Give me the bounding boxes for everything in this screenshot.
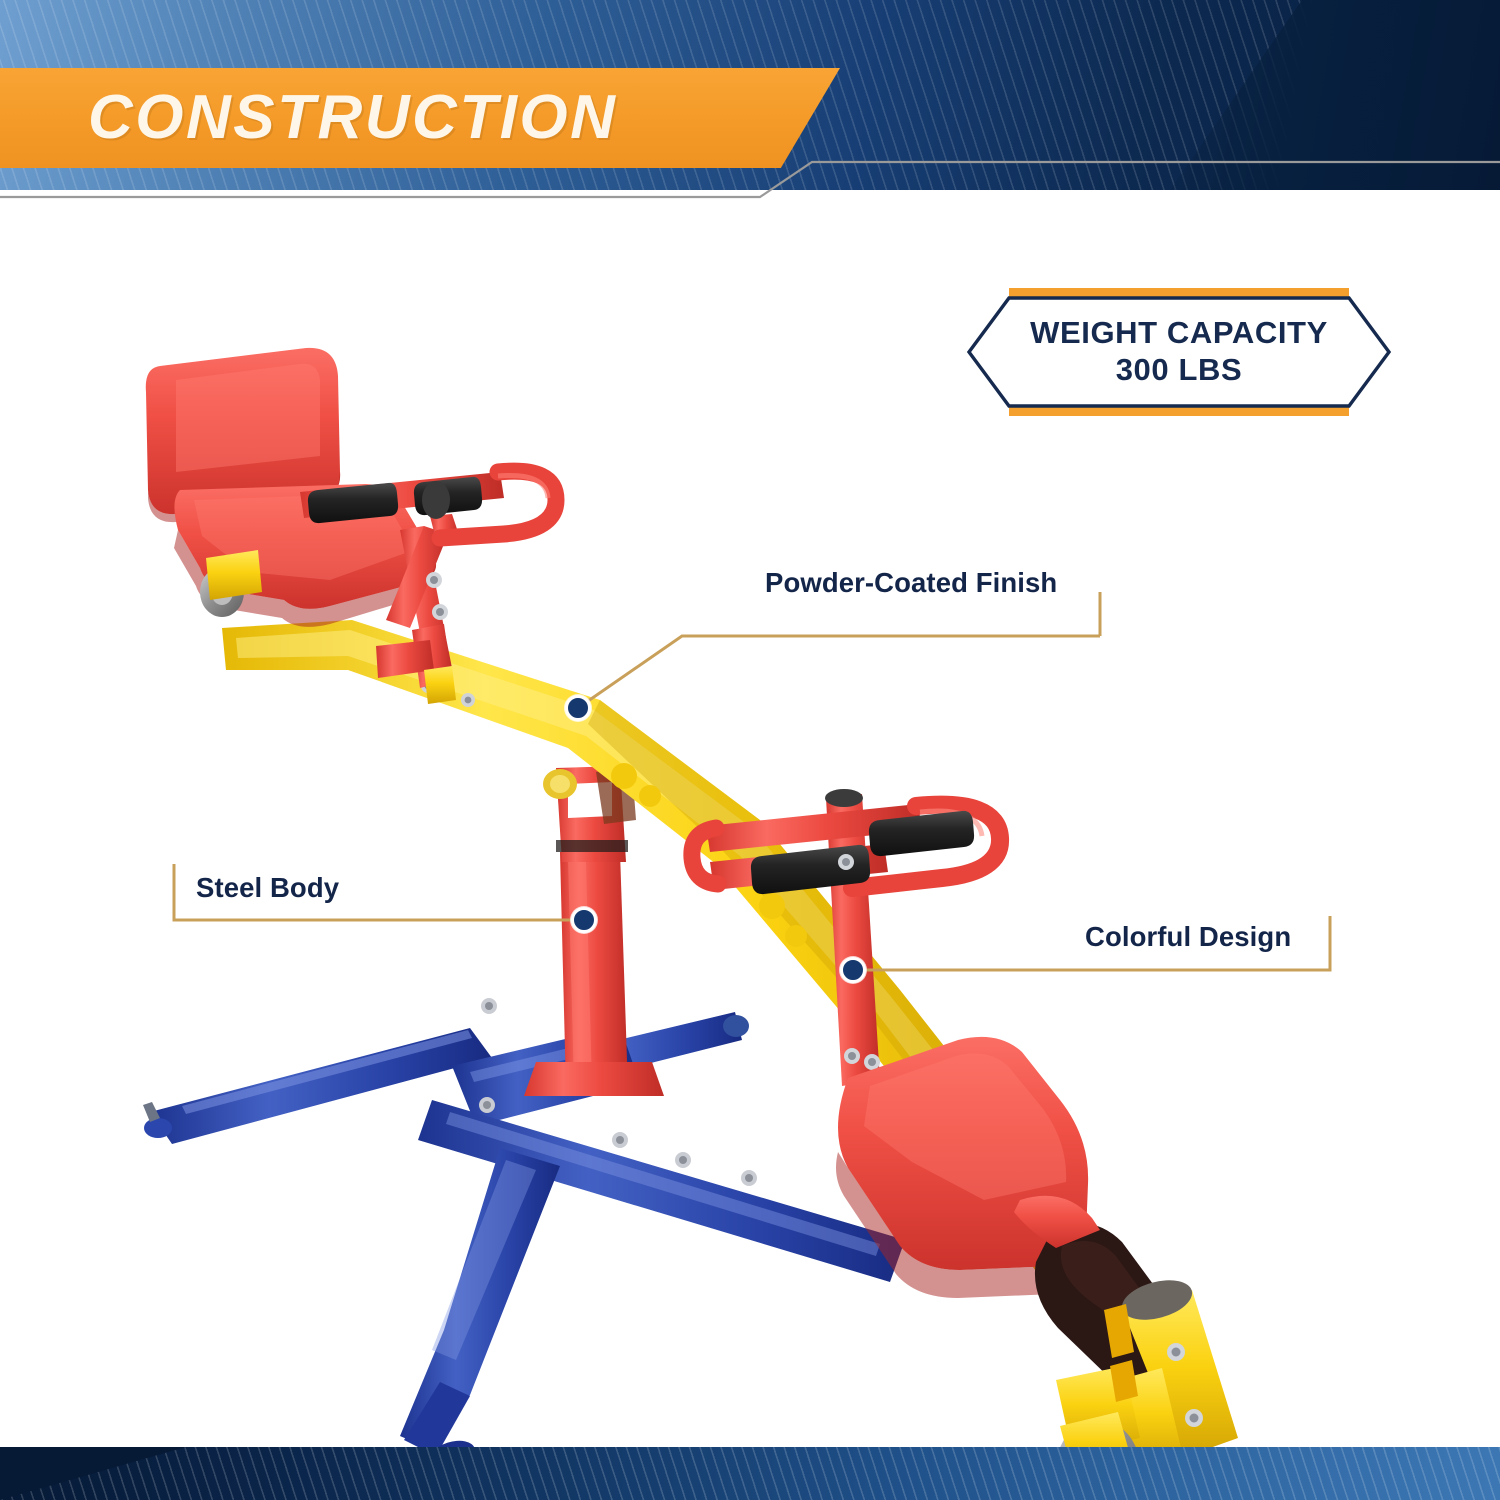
infographic-page: CONSTRUCTION WEIGHT CAPACITY 300 LBS (0, 0, 1500, 1500)
colorful-design-anchor-dot[interactable] (840, 957, 866, 983)
page-title: CONSTRUCTION (88, 87, 617, 149)
powder-coated-anchor-dot[interactable] (565, 695, 591, 721)
bottom-banner (0, 1447, 1500, 1500)
bottom-banner-stripes (0, 1447, 1500, 1500)
powder-coated-label: Powder-Coated Finish (765, 567, 1057, 599)
colorful-design-label: Colorful Design (1085, 921, 1291, 953)
steel-body-label: Steel Body (196, 872, 339, 904)
product-image (0, 200, 1500, 1450)
base-frame-blue (143, 998, 905, 1450)
steel-body-anchor-dot[interactable] (571, 907, 597, 933)
right-seat-assembly (692, 789, 1238, 1450)
powder-coated-leader-line (560, 580, 1120, 720)
